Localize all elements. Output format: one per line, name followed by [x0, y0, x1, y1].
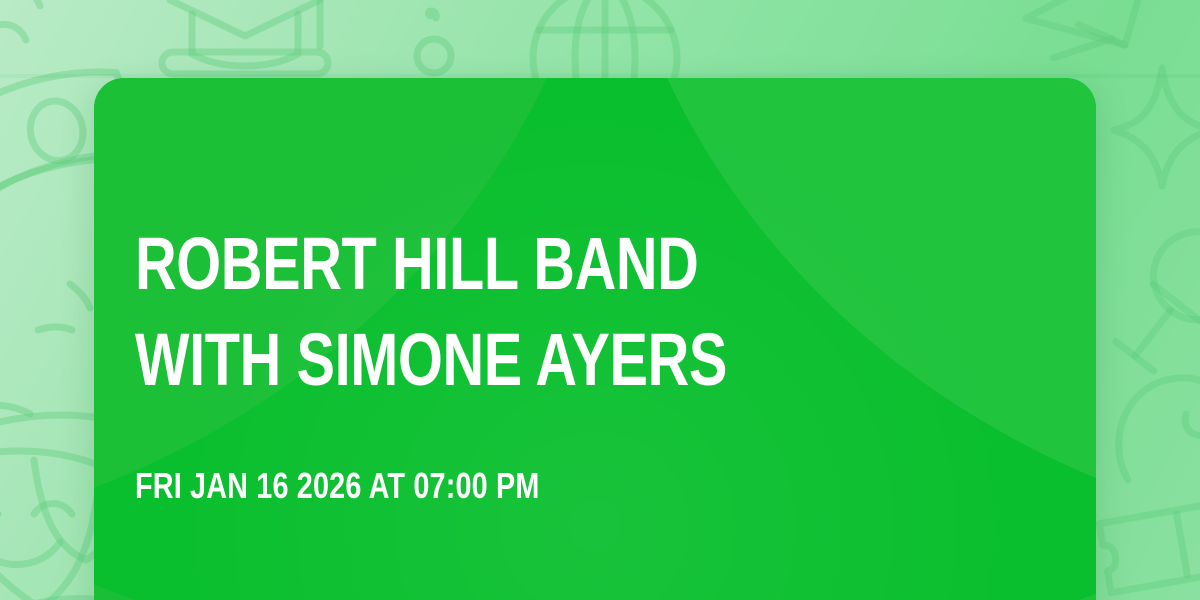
event-card[interactable]: Robert Hill Band with Simone Ayers Fri J…	[94, 78, 1096, 600]
microphone-icon	[1104, 216, 1200, 406]
sparkle-icon	[1096, 54, 1200, 194]
ticket-icon	[1090, 470, 1200, 600]
event-banner: Robert Hill Band with Simone Ayers Fri J…	[0, 0, 1200, 600]
event-datetime: Fri Jan 16 2026 at 07:00 PM	[135, 464, 539, 508]
card-content: Robert Hill Band with Simone Ayers Fri J…	[135, 78, 1055, 600]
confetti-icon	[0, 0, 104, 76]
swirl-icon	[1110, 352, 1200, 502]
paper-plane-icon	[1020, 0, 1190, 84]
event-title: Robert Hill Band with Simone Ayers	[135, 216, 829, 408]
